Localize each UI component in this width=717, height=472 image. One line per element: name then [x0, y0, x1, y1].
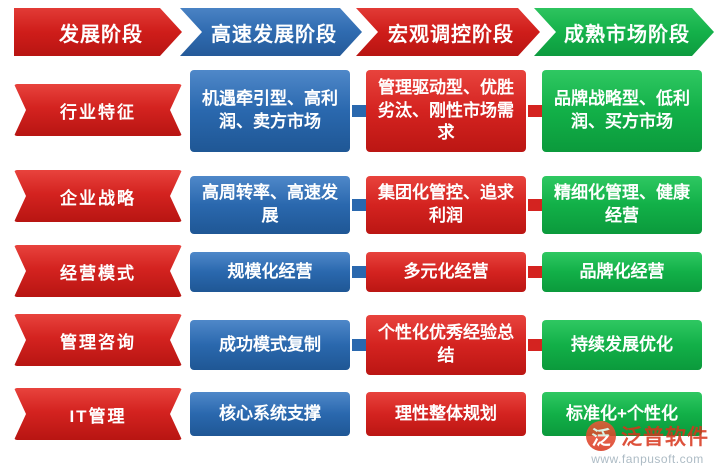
brand-logo-icon: 泛: [586, 421, 616, 451]
row-label-text: 行业特征: [60, 98, 136, 123]
row-label-text: 管理咨询: [60, 328, 136, 353]
cell-0-1[interactable]: 管理驱动型、优胜劣汰、刚性市场需求: [366, 70, 526, 152]
row-label-text: IT管理: [69, 402, 126, 427]
stage-header-label: 高速发展阶段: [205, 18, 337, 47]
cell-1-2[interactable]: 精细化管理、健康经营: [542, 176, 702, 234]
stage-header-3[interactable]: 成熟市场阶段: [534, 8, 714, 56]
process-matrix-diagram: 发展阶段 高速发展阶段 宏观调控阶段 成熟市场阶段 行业特征 机遇牵引型、高利润…: [0, 0, 717, 472]
cell-4-0[interactable]: 核心系统支撑: [190, 392, 350, 436]
cell-0-0[interactable]: 机遇牵引型、高利润、卖方市场: [190, 70, 350, 152]
cell-3-1[interactable]: 个性化优秀经验总结: [366, 315, 526, 375]
cell-3-2[interactable]: 持续发展优化: [542, 320, 702, 370]
stage-header-0[interactable]: 发展阶段: [14, 8, 182, 56]
cell-2-0[interactable]: 规模化经营: [190, 252, 350, 292]
brand-name: 泛普软件: [621, 421, 709, 451]
row-label-0[interactable]: 行业特征: [14, 84, 182, 136]
row-label-text: 经营模式: [60, 259, 136, 284]
cell-1-0[interactable]: 高周转率、高速发展: [190, 176, 350, 234]
stage-header-2[interactable]: 宏观调控阶段: [356, 8, 540, 56]
brand-url: www.fanpusoft.com: [591, 452, 704, 466]
row-label-3[interactable]: 管理咨询: [14, 314, 182, 366]
stage-header-label: 发展阶段: [53, 18, 143, 47]
row-label-2[interactable]: 经营模式: [14, 245, 182, 297]
stage-header-label: 成熟市场阶段: [558, 18, 690, 47]
cell-0-2[interactable]: 品牌战略型、低利润、买方市场: [542, 70, 702, 152]
cell-3-0[interactable]: 成功模式复制: [190, 320, 350, 370]
cell-4-1[interactable]: 理性整体规划: [366, 392, 526, 436]
row-label-text: 企业战略: [60, 184, 136, 209]
row-label-1[interactable]: 企业战略: [14, 170, 182, 222]
cell-1-1[interactable]: 集团化管控、追求利润: [366, 176, 526, 234]
cell-2-2[interactable]: 品牌化经营: [542, 252, 702, 292]
watermark: 泛 泛普软件 www.fanpusoft.com: [586, 421, 709, 466]
stage-header-label: 宏观调控阶段: [382, 18, 514, 47]
cell-2-1[interactable]: 多元化经营: [366, 252, 526, 292]
stage-header-1[interactable]: 高速发展阶段: [180, 8, 362, 56]
row-label-4[interactable]: IT管理: [14, 388, 182, 440]
